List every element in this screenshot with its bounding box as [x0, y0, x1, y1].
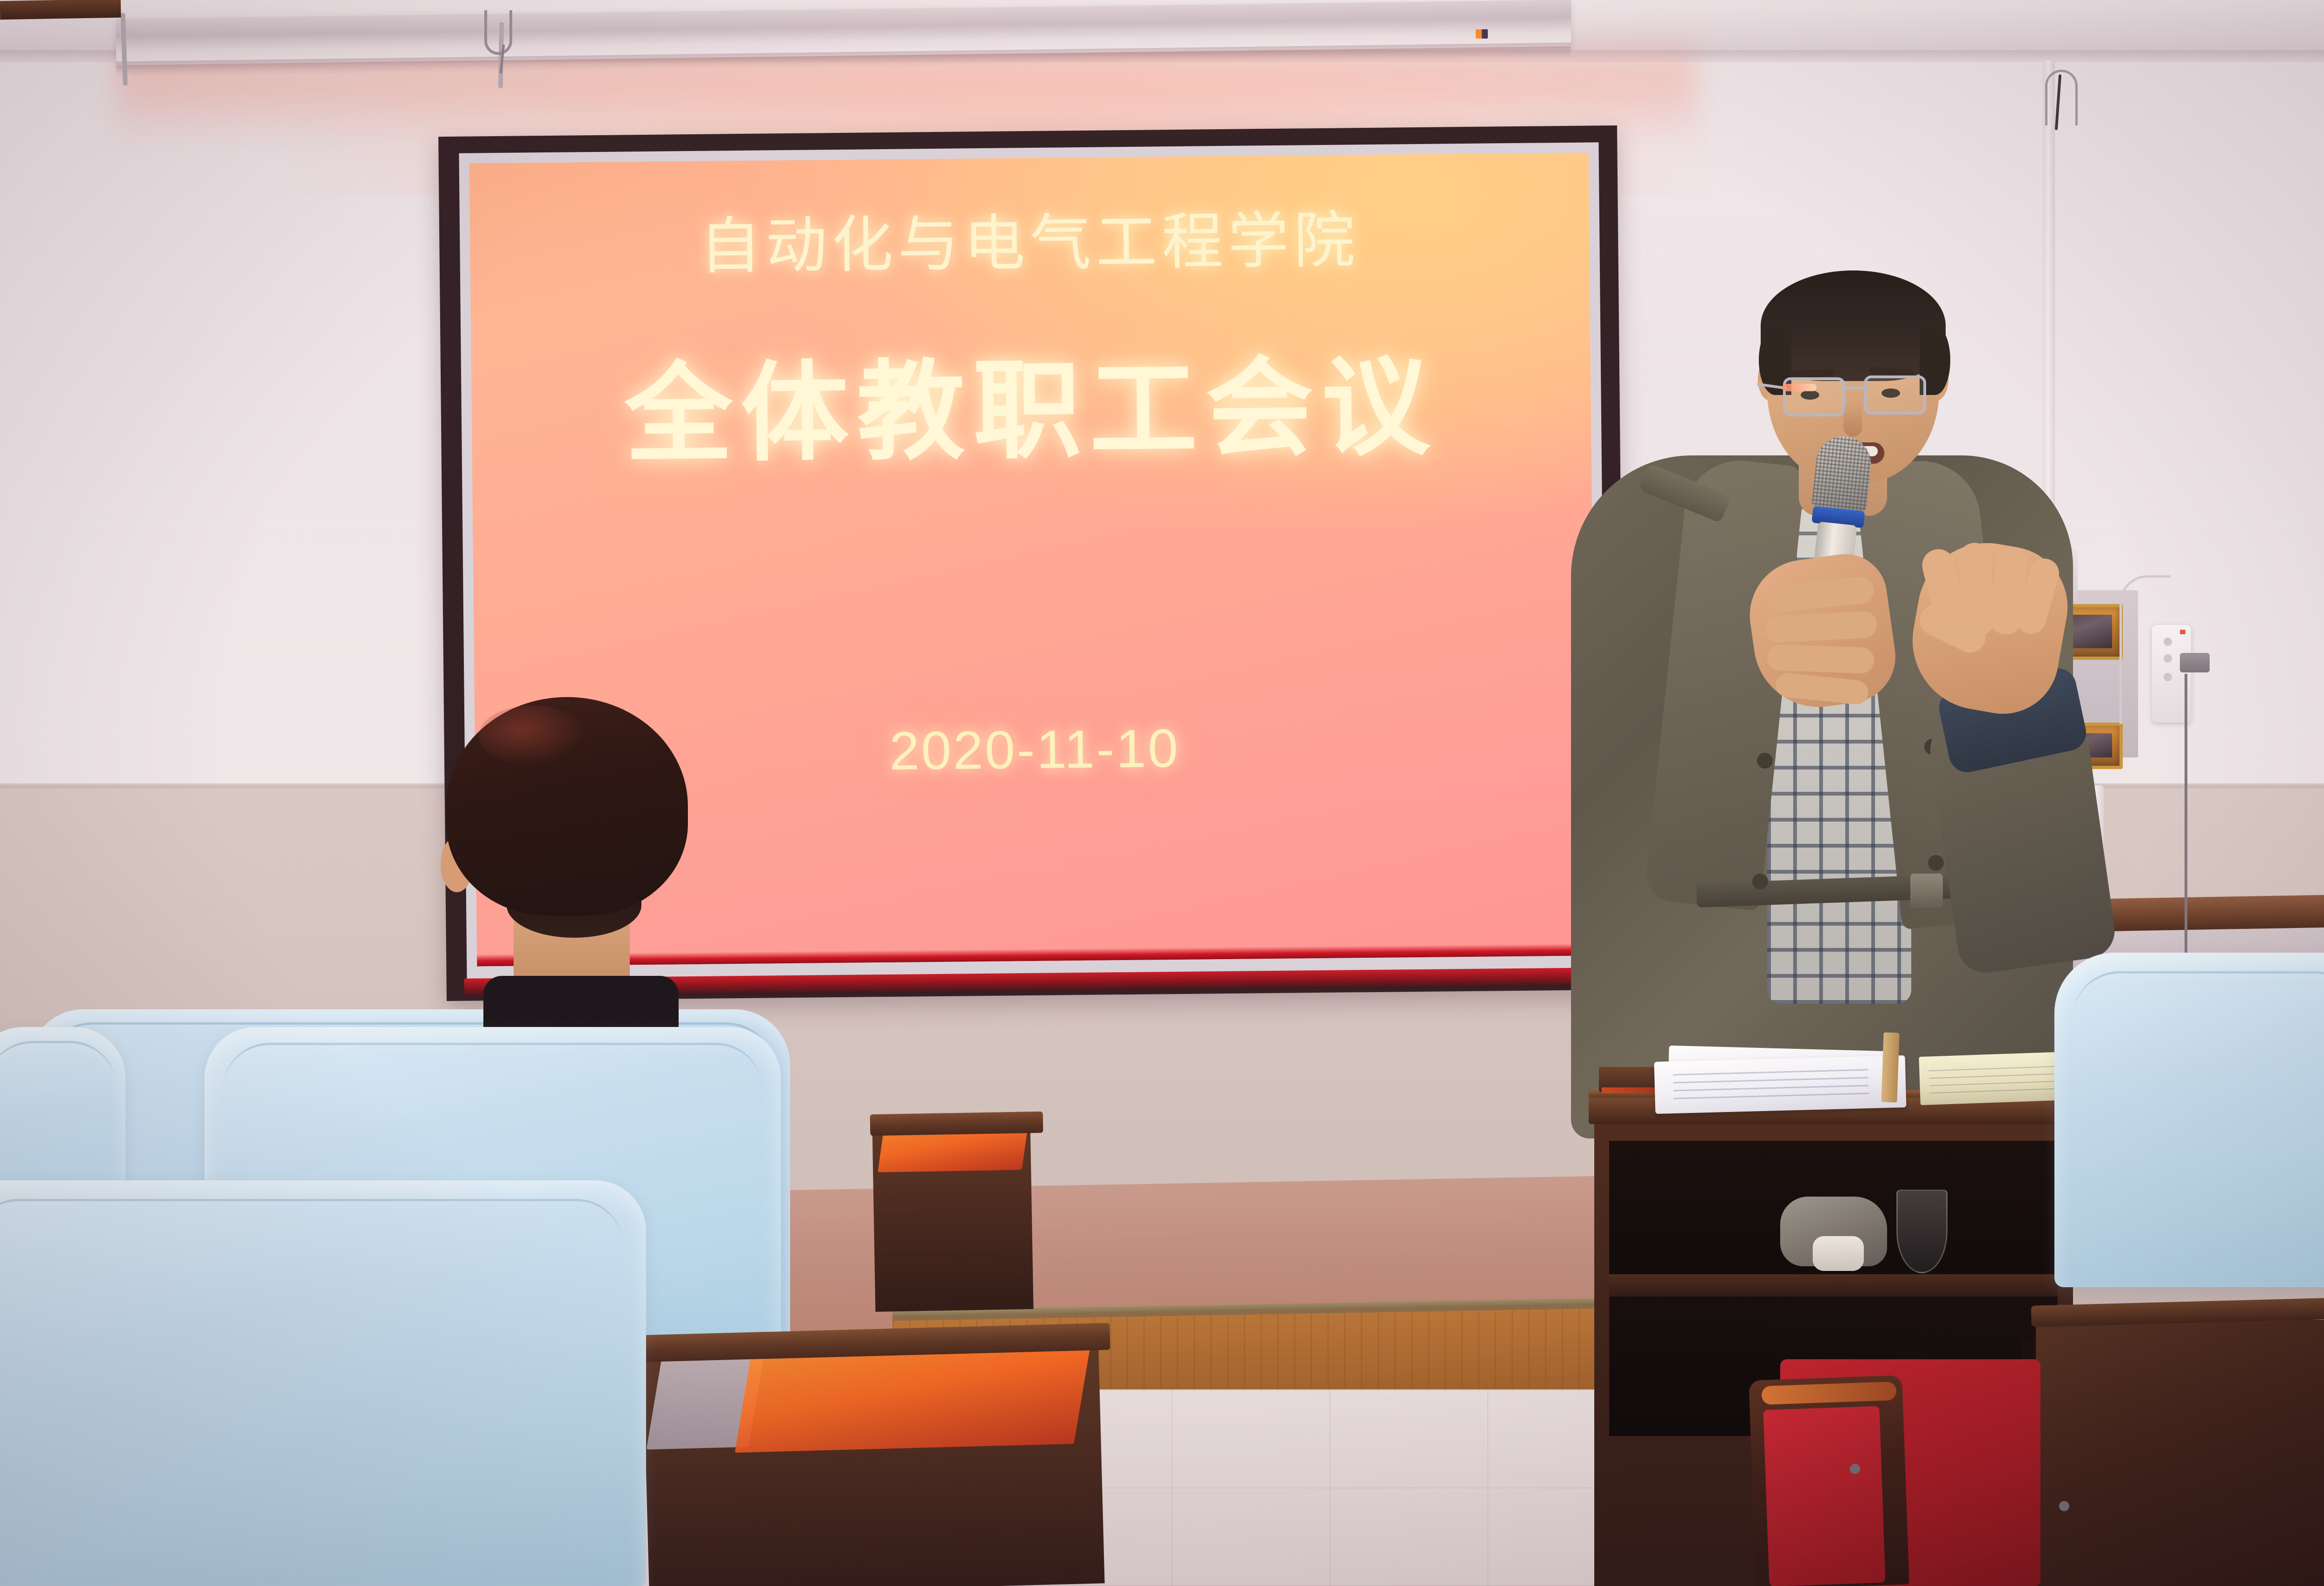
seat-armrest-screw	[1850, 1464, 1860, 1474]
gray-cable	[2185, 674, 2250, 999]
chair-cover-seam	[0, 1199, 623, 1571]
seat-panel-screw	[2059, 1501, 2069, 1511]
photo-scene: 自动化与电气工程学院 全体教职工会议 2020-11-10	[0, 0, 2324, 1586]
microphone-grille	[1811, 434, 1874, 513]
coat-button	[1928, 855, 1944, 871]
speaker-presenter	[1557, 260, 2092, 1138]
desk-mid-edge	[870, 1112, 1043, 1136]
white-cloth	[1813, 1236, 1864, 1271]
power-strip-led	[2180, 630, 2185, 634]
coat-button	[1752, 874, 1768, 889]
glasses-lens-left	[1783, 377, 1845, 416]
glass-cup	[1896, 1190, 1948, 1273]
podium-shelf-board	[1609, 1274, 2058, 1296]
wooden-pointer-stick	[1881, 1032, 1899, 1102]
coat-button	[1757, 753, 1773, 769]
desk-far-left-top	[0, 0, 121, 20]
paper-handwriting	[1673, 1066, 1868, 1099]
chair-cover-seam	[2073, 971, 2324, 1269]
power-strip-socket[interactable]	[2164, 673, 2172, 681]
seat-arm-cushion	[1763, 1406, 1885, 1586]
slide-subtitle: 自动化与电气工程学院	[470, 205, 1590, 283]
plugged-adapter[interactable]	[2180, 653, 2210, 672]
power-strip-socket[interactable]	[2164, 654, 2172, 663]
seat-side-panel	[2036, 1320, 2324, 1586]
attendee-hair-highlight	[479, 705, 586, 766]
housing-indicator-led	[1476, 29, 1488, 39]
glasses-bridge	[1844, 387, 1866, 389]
glasses-lens-right	[1864, 375, 1926, 415]
ceiling-hook	[484, 10, 512, 55]
notebook-ruled-lines	[1928, 1061, 2073, 1094]
glasses-lens-flare	[1782, 384, 1816, 391]
power-strip-socket[interactable]	[2164, 638, 2172, 646]
slide-title: 全体教职工会议	[471, 349, 1591, 474]
coat-belt-buckle	[1910, 874, 1943, 908]
nose	[1843, 402, 1862, 437]
conduit-wire-loop	[2045, 70, 2078, 125]
finger	[1767, 644, 1875, 674]
